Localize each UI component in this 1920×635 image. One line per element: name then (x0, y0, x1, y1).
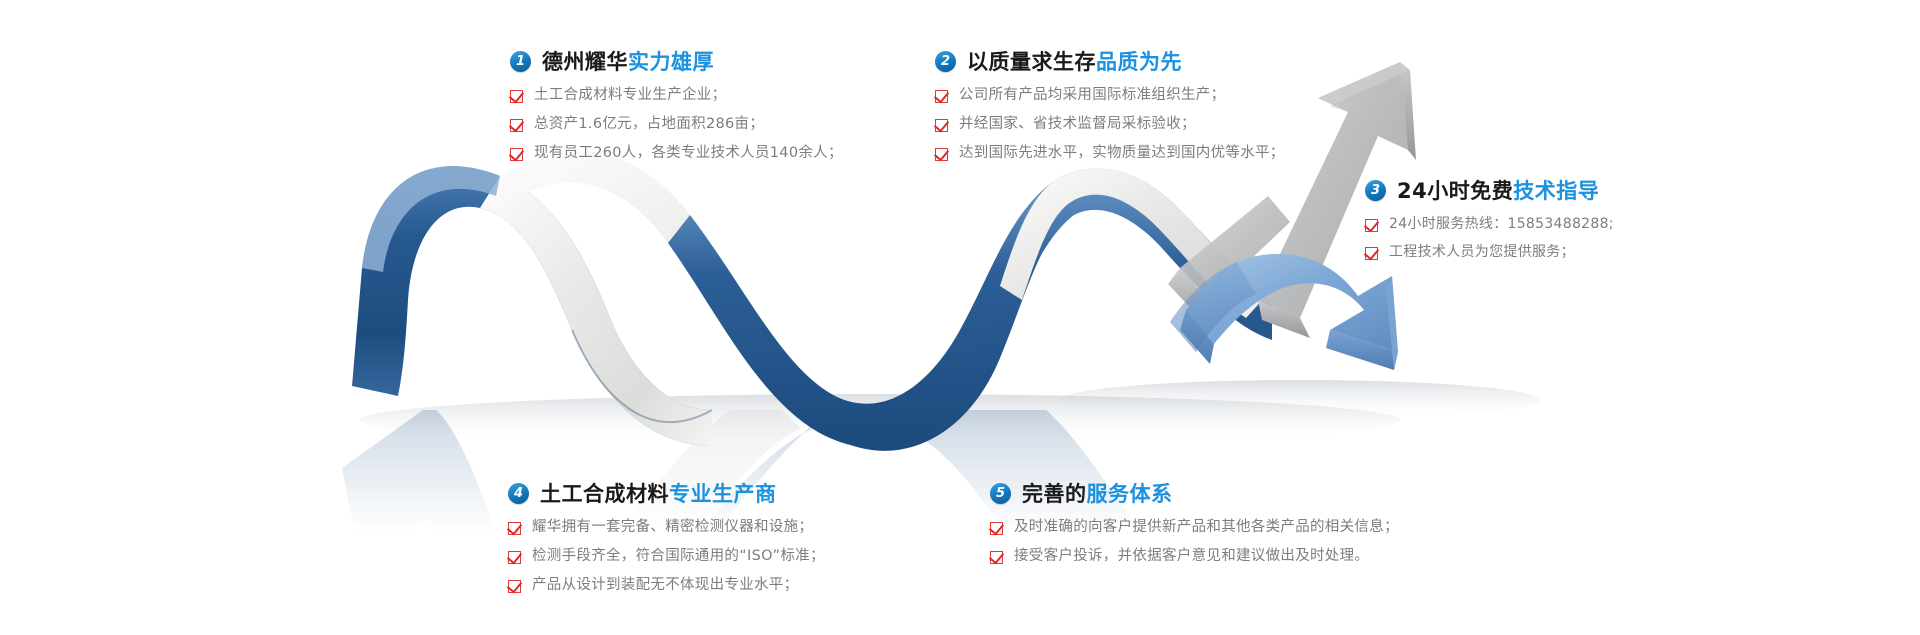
list-item: 工程技术人员为您提供服务； (1365, 242, 1614, 262)
list-item: 产品从设计到装配无不体现出专业水平； (508, 575, 825, 596)
check-icon (935, 119, 948, 132)
bullet-text: 产品从设计到装配无不体现出专业水平； (532, 575, 798, 596)
feature-3-title-accent: 技术指导 (1513, 179, 1599, 203)
feature-5-heading: 5 完善的服务体系 (990, 478, 1399, 508)
infographic-canvas: 1 德州耀华实力雄厚 土工合成材料专业生产企业； 总资产1.6亿元，占地面积28… (0, 0, 1920, 635)
feature-4-heading: 4 土工合成材料专业生产商 (508, 478, 825, 508)
feature-2-heading: 2 以质量求生存品质为先 (935, 46, 1285, 76)
feature-5-bullets: 及时准确的向客户提供新产品和其他各类产品的相关信息； 接受客户投诉，并依据客户意… (990, 517, 1399, 567)
check-icon (990, 551, 1003, 564)
feature-4-title: 土工合成材料专业生产商 (540, 478, 777, 508)
bullet-text: 检测手段齐全，符合国际通用的“ISO”标准； (532, 546, 825, 567)
bullet-text: 工程技术人员为您提供服务； (1389, 242, 1575, 262)
feature-1-title: 德州耀华实力雄厚 (542, 46, 714, 76)
check-icon (510, 90, 523, 103)
bullet-text: 24小时服务热线：15853488288; (1389, 214, 1614, 234)
feature-2-title-dark: 以质量求生存 (967, 50, 1096, 74)
number-badge-2: 2 (935, 51, 956, 72)
bullet-text: 土工合成材料专业生产企业； (534, 85, 726, 106)
list-item: 24小时服务热线：15853488288; (1365, 214, 1614, 234)
feature-4-title-dark: 土工合成材料 (540, 482, 669, 506)
feature-5-title: 完善的服务体系 (1022, 478, 1173, 508)
number-badge-5: 5 (990, 483, 1011, 504)
feature-2-title-accent: 品质为先 (1096, 50, 1182, 74)
check-icon (935, 90, 948, 103)
feature-4-title-accent: 专业生产商 (669, 482, 777, 506)
list-item: 接受客户投诉，并依据客户意见和建议做出及时处理。 (990, 546, 1399, 567)
feature-3-heading: 3 24小时免费技术指导 (1365, 175, 1614, 205)
feature-4-bullets: 耀华拥有一套完备、精密检测仪器和设施； 检测手段齐全，符合国际通用的“ISO”标… (508, 517, 825, 596)
feature-5-title-accent: 服务体系 (1087, 482, 1173, 506)
list-item: 耀华拥有一套完备、精密检测仪器和设施； (508, 517, 825, 538)
bullet-text: 及时准确的向客户提供新产品和其他各类产品的相关信息； (1014, 517, 1399, 538)
feature-block-1: 1 德州耀华实力雄厚 土工合成材料专业生产企业； 总资产1.6亿元，占地面积28… (510, 46, 843, 172)
list-item: 并经国家、省技术监督局采标验收； (935, 114, 1285, 135)
list-item: 检测手段齐全，符合国际通用的“ISO”标准； (508, 546, 825, 567)
list-item: 总资产1.6亿元，占地面积286亩； (510, 114, 843, 135)
check-icon (1365, 219, 1378, 232)
check-icon (510, 119, 523, 132)
list-item: 现有员工260人，各类专业技术人员140余人； (510, 143, 843, 164)
check-icon (508, 580, 521, 593)
feature-1-bullets: 土工合成材料专业生产企业； 总资产1.6亿元，占地面积286亩； 现有员工260… (510, 85, 843, 164)
bullet-text: 并经国家、省技术监督局采标验收； (959, 114, 1196, 135)
check-icon (508, 522, 521, 535)
bullet-text: 接受客户投诉，并依据客户意见和建议做出及时处理。 (1014, 546, 1369, 567)
feature-3-bullets: 24小时服务热线：15853488288; 工程技术人员为您提供服务； (1365, 214, 1614, 263)
number-badge-3: 3 (1365, 180, 1386, 201)
bullet-text: 耀华拥有一套完备、精密检测仪器和设施； (532, 517, 813, 538)
list-item: 及时准确的向客户提供新产品和其他各类产品的相关信息； (990, 517, 1399, 538)
feature-1-title-accent: 实力雄厚 (628, 50, 714, 74)
feature-3-title-dark: 24小时免费 (1397, 179, 1513, 203)
feature-2-bullets: 公司所有产品均采用国际标准组织生产； 并经国家、省技术监督局采标验收； 达到国际… (935, 85, 1285, 164)
check-icon (990, 522, 1003, 535)
list-item: 达到国际先进水平，实物质量达到国内优等水平； (935, 143, 1285, 164)
feature-3-title: 24小时免费技术指导 (1397, 175, 1599, 205)
bullet-text: 达到国际先进水平，实物质量达到国内优等水平； (959, 143, 1285, 164)
feature-5-title-dark: 完善的 (1022, 482, 1087, 506)
number-badge-4: 4 (508, 483, 529, 504)
feature-1-heading: 1 德州耀华实力雄厚 (510, 46, 843, 76)
feature-block-4: 4 土工合成材料专业生产商 耀华拥有一套完备、精密检测仪器和设施； 检测手段齐全… (508, 478, 825, 604)
list-item: 公司所有产品均采用国际标准组织生产； (935, 85, 1285, 106)
list-item: 土工合成材料专业生产企业； (510, 85, 843, 106)
check-icon (510, 148, 523, 161)
bullet-text: 公司所有产品均采用国际标准组织生产； (959, 85, 1225, 106)
number-badge-1: 1 (510, 51, 531, 72)
feature-block-5: 5 完善的服务体系 及时准确的向客户提供新产品和其他各类产品的相关信息； 接受客… (990, 478, 1399, 575)
feature-2-title: 以质量求生存品质为先 (967, 46, 1182, 76)
check-icon (1365, 247, 1378, 260)
feature-1-title-dark: 德州耀华 (542, 50, 628, 74)
bullet-text: 总资产1.6亿元，占地面积286亩； (534, 114, 764, 135)
feature-block-2: 2 以质量求生存品质为先 公司所有产品均采用国际标准组织生产； 并经国家、省技术… (935, 46, 1285, 172)
check-icon (508, 551, 521, 564)
check-icon (935, 148, 948, 161)
bullet-text: 现有员工260人，各类专业技术人员140余人； (534, 143, 843, 164)
feature-block-3: 3 24小时免费技术指导 24小时服务热线：15853488288; 工程技术人… (1365, 175, 1614, 271)
